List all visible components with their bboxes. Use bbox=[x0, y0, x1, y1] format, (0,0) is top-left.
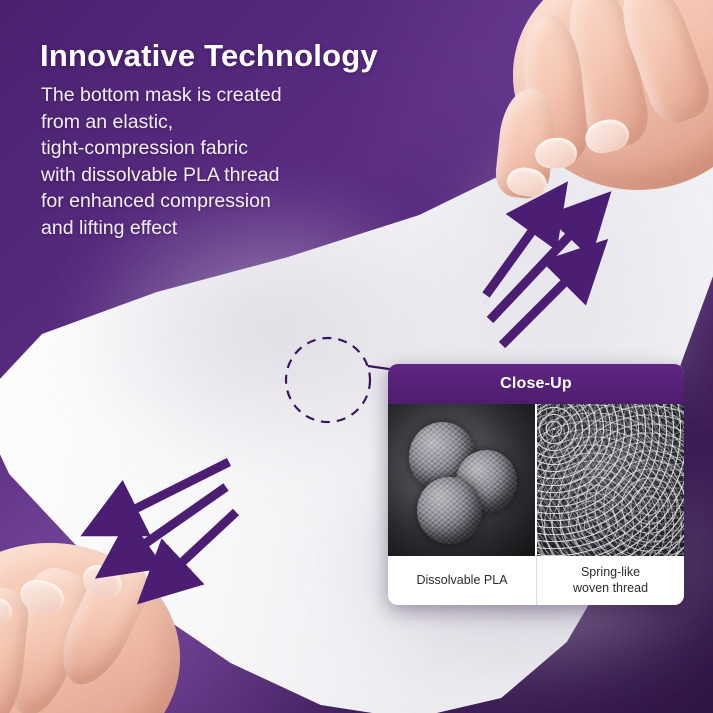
body-copy: The bottom mask is created from an elast… bbox=[41, 82, 371, 241]
zoom-circle-callout bbox=[278, 330, 398, 450]
body-line-5: for enhanced compression bbox=[41, 188, 371, 215]
pla-microspheres-photo bbox=[388, 404, 535, 556]
body-line-1: The bottom mask is created bbox=[41, 82, 371, 109]
page-title: Innovative Technology bbox=[40, 38, 378, 74]
coiled-thread-photo bbox=[535, 404, 684, 556]
caption-line-2: woven thread bbox=[573, 581, 648, 595]
coil-texture-b bbox=[535, 404, 684, 556]
body-line-6: and lifting effect bbox=[41, 215, 371, 242]
closeup-image-row bbox=[388, 404, 684, 556]
closeup-card: Close-Up Dissolvable PLA Spring-like wov… bbox=[388, 364, 684, 605]
closeup-caption-row: Dissolvable PLA Spring-like woven thread bbox=[388, 556, 684, 605]
body-line-3: tight-compression fabric bbox=[41, 135, 371, 162]
caption-dissolvable-pla: Dissolvable PLA bbox=[388, 556, 536, 605]
caption-line-1: Spring-like bbox=[581, 565, 640, 579]
product-infographic: Close-Up Dissolvable PLA Spring-like wov… bbox=[0, 0, 713, 713]
body-line-4: with dissolvable PLA thread bbox=[41, 162, 371, 189]
dashed-circle-icon bbox=[286, 338, 370, 422]
caption-spring-like-woven-thread: Spring-like woven thread bbox=[536, 556, 684, 605]
body-line-2: from an elastic, bbox=[41, 109, 371, 136]
closeup-title: Close-Up bbox=[388, 364, 684, 404]
